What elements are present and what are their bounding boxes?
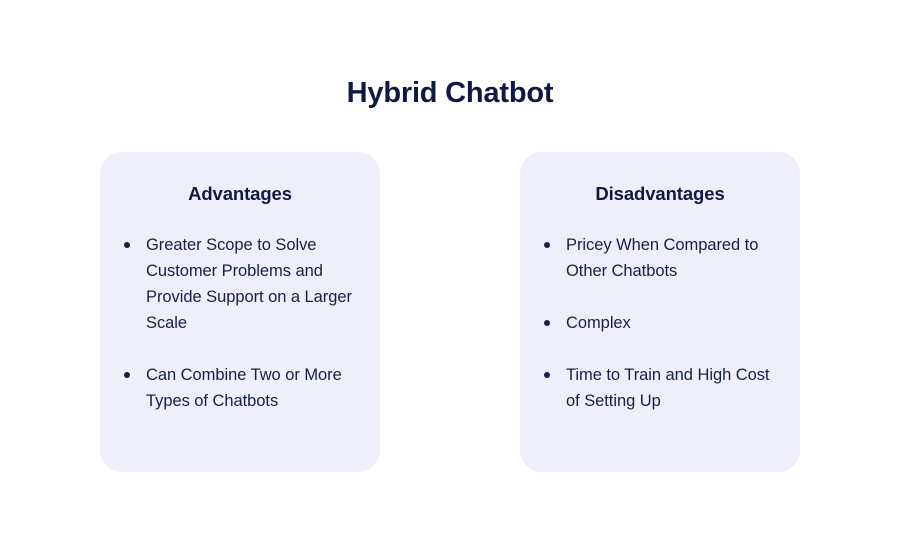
list-item-label: Time to Train and High Cost of Setting U… (566, 362, 782, 414)
advantages-card-heading: Advantages (100, 182, 380, 206)
bullet-dot-icon (544, 372, 550, 378)
list-item: Complex (542, 310, 782, 336)
bullet-dot-icon (544, 242, 550, 248)
list-item: Time to Train and High Cost of Setting U… (542, 362, 782, 414)
bullet-dot-icon (124, 242, 130, 248)
advantages-card: Advantages Greater Scope to Solve Custom… (100, 152, 380, 472)
list-item-label: Greater Scope to Solve Customer Problems… (146, 232, 362, 336)
disadvantages-card-heading: Disadvantages (520, 182, 800, 206)
page-title: Hybrid Chatbot (0, 74, 900, 112)
list-item-label: Can Combine Two or More Types of Chatbot… (146, 362, 362, 414)
bullet-dot-icon (544, 320, 550, 326)
disadvantages-card: Disadvantages Pricey When Compared to Ot… (520, 152, 800, 472)
advantages-bullet-list: Greater Scope to Solve Customer Problems… (100, 232, 380, 414)
disadvantages-bullet-list: Pricey When Compared to Other Chatbots C… (520, 232, 800, 414)
list-item: Pricey When Compared to Other Chatbots (542, 232, 782, 284)
list-item: Greater Scope to Solve Customer Problems… (122, 232, 362, 336)
list-item: Can Combine Two or More Types of Chatbot… (122, 362, 362, 414)
bullet-dot-icon (124, 372, 130, 378)
list-item-label: Complex (566, 310, 782, 336)
slide-canvas: Hybrid Chatbot Advantages Greater Scope … (0, 0, 900, 550)
list-item-label: Pricey When Compared to Other Chatbots (566, 232, 782, 284)
